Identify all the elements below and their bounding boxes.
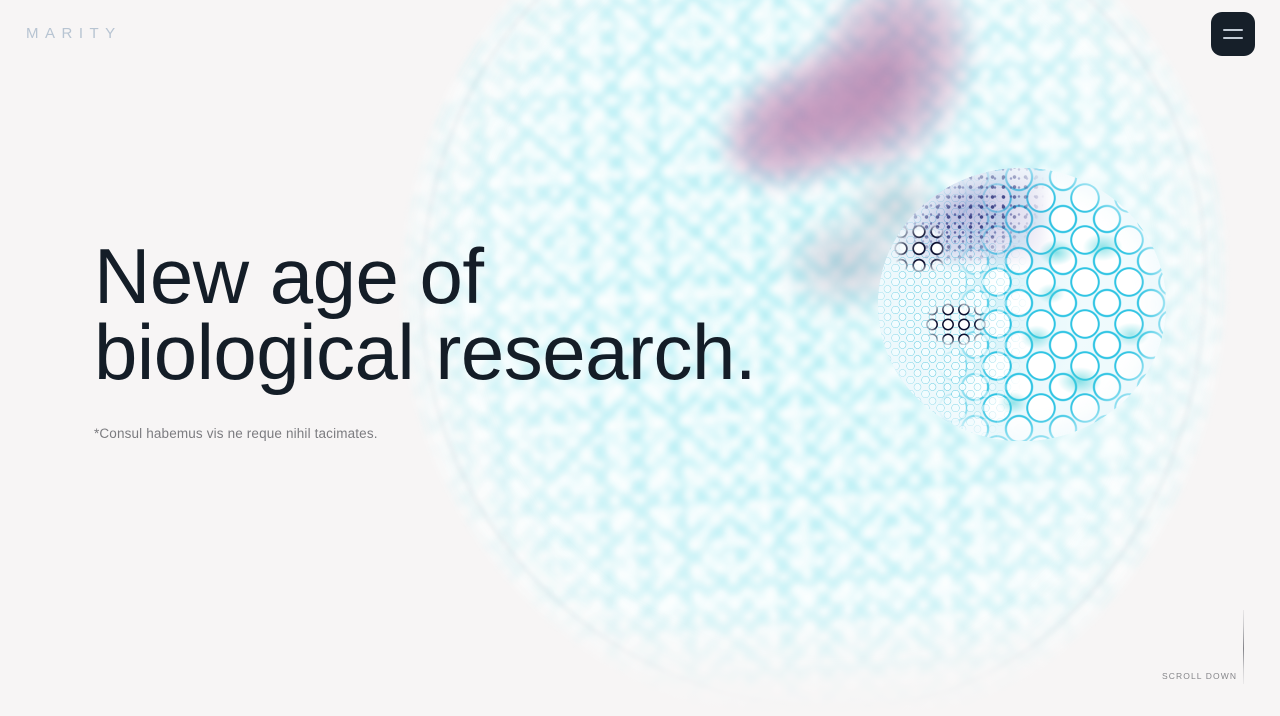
magnified-inset-circle	[878, 168, 1166, 441]
inset-small-cells	[878, 168, 1166, 441]
hero-page: MARITY New age of biological research. *…	[0, 0, 1280, 716]
hamburger-bar-top	[1223, 29, 1243, 31]
hero-title-line-1: New age of	[94, 232, 484, 320]
page-title: New age of biological research.	[94, 238, 814, 391]
xylem-cluster-2	[924, 302, 987, 346]
xylem-cluster-1	[892, 223, 950, 272]
inset-speckled-region	[878, 168, 1045, 283]
hamburger-bar-bottom	[1223, 37, 1243, 39]
vascular-bundle-4	[848, 169, 943, 245]
inset-large-cells-mask	[878, 168, 1166, 441]
hamburger-menu-button[interactable]	[1211, 12, 1255, 56]
inset-large-cells	[878, 168, 1166, 441]
hero-title-line-2: biological research.	[94, 314, 814, 390]
hero-copy: New age of biological research. *Consul …	[94, 238, 814, 441]
inset-background	[878, 168, 1166, 441]
scroll-progress-line	[1243, 610, 1244, 684]
inset-teal-cell-patches	[878, 168, 1166, 441]
site-header: MARITY	[0, 0, 1280, 68]
artwork-bottom-fade	[0, 606, 1280, 716]
brand-logo[interactable]: MARITY	[26, 25, 122, 42]
scroll-down-label: SCROLL DOWN	[1162, 671, 1237, 681]
inset-purple-wash	[884, 168, 1045, 261]
scroll-down-indicator[interactable]: SCROLL DOWN	[1150, 605, 1260, 695]
inset-edge-fade	[878, 168, 1166, 441]
hero-footnote: *Consul habemus vis ne reque nihil tacim…	[94, 426, 814, 441]
